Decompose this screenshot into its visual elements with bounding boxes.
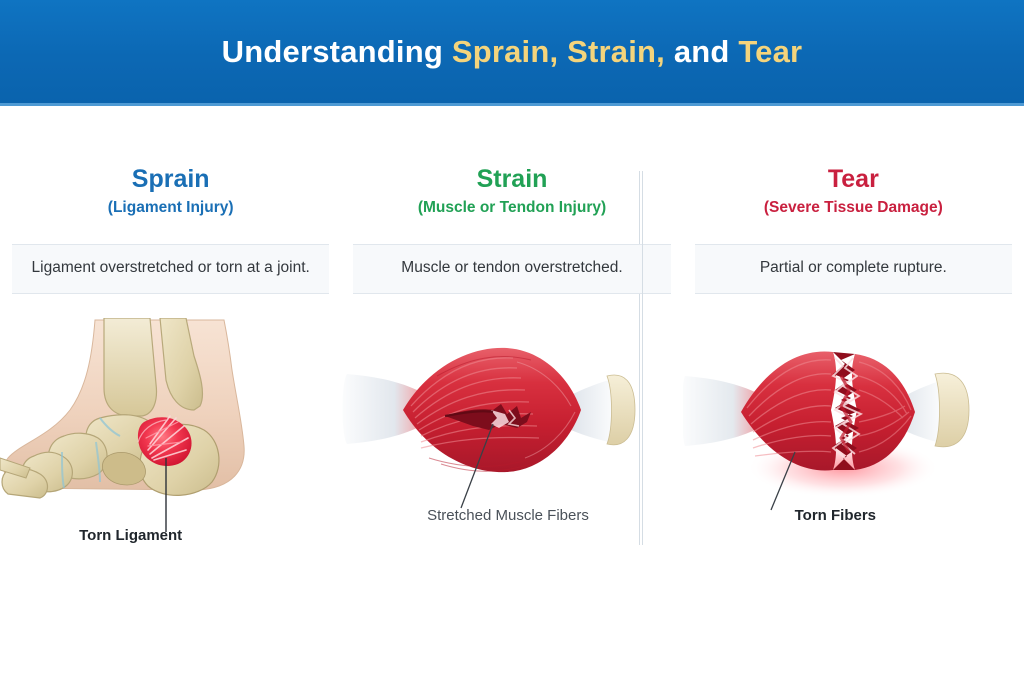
page-title: Understanding Sprain, Strain, and Tear	[222, 36, 803, 67]
column-sprain-title: Sprain	[0, 165, 341, 193]
title-term-sprain: Sprain,	[452, 34, 558, 69]
column-tear-description: Partial or complete rupture.	[695, 244, 1012, 294]
caption-torn-ligament: Torn Ligament	[0, 528, 301, 543]
title-term-tear: Tear	[738, 34, 802, 69]
comparison-columns: Sprain (Ligament Injury) Ligament overst…	[0, 103, 1024, 683]
caption-stretched-muscle-fibers: Stretched Muscle Fibers	[337, 508, 678, 523]
header-banner: Understanding Sprain, Strain, and Tear	[0, 0, 1024, 103]
title-prefix: Understanding	[222, 34, 452, 69]
column-sprain-header: Sprain (Ligament Injury)	[0, 165, 341, 216]
title-term-strain: Strain,	[567, 34, 665, 69]
column-tear-title: Tear	[683, 165, 1024, 193]
column-strain-title: Strain	[341, 165, 682, 193]
title-conjunction: and	[665, 34, 738, 69]
column-tear-header: Tear (Severe Tissue Damage)	[683, 165, 1024, 216]
infographic-page: Understanding Sprain, Strain, and Tear S…	[0, 0, 1024, 683]
column-divider-2	[642, 171, 643, 545]
stretched-muscle-illustration	[341, 318, 682, 538]
column-strain: Strain (Muscle or Tendon Injury) Muscle …	[341, 103, 682, 683]
column-sprain: Sprain (Ligament Injury) Ligament overst…	[0, 103, 341, 683]
column-tear: Tear (Severe Tissue Damage) Partial or c…	[683, 103, 1024, 683]
title-space-1	[558, 34, 567, 69]
torn-muscle-illustration	[683, 318, 1024, 538]
column-tear-subtitle: (Severe Tissue Damage)	[683, 199, 1024, 216]
caption-torn-fibers: Torn Fibers	[665, 508, 1006, 523]
column-sprain-subtitle: (Ligament Injury)	[0, 199, 341, 216]
ankle-sprain-illustration	[0, 318, 341, 538]
column-sprain-description: Ligament overstretched or torn at a join…	[12, 244, 329, 294]
column-strain-subtitle: (Muscle or Tendon Injury)	[341, 199, 682, 216]
column-strain-header: Strain (Muscle or Tendon Injury)	[341, 165, 682, 216]
column-strain-description: Muscle or tendon overstretched.	[353, 244, 670, 294]
